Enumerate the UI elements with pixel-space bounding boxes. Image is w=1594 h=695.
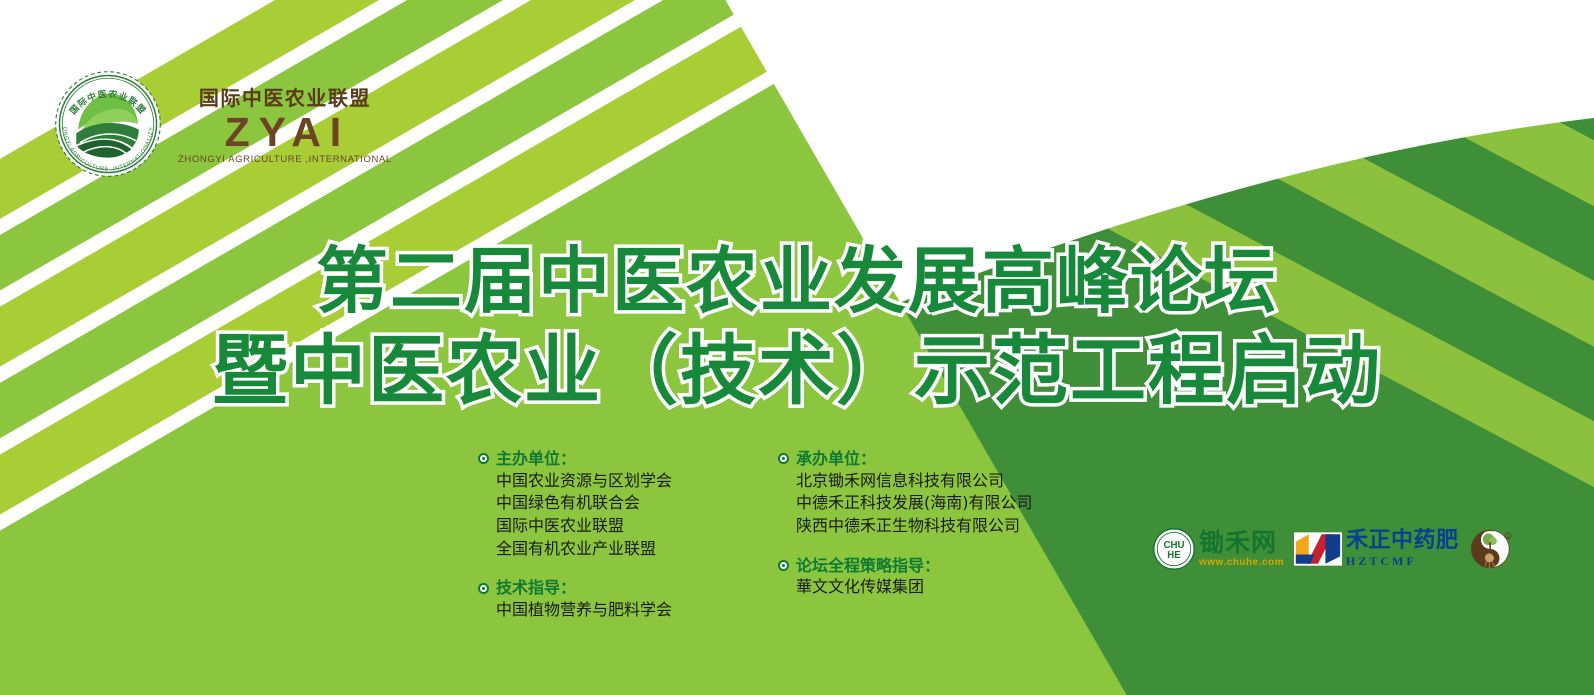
circular-field-emblem-icon: 国际中医农业联盟 ZHONGYI AGRICULTURE ,INTERNATIO… xyxy=(52,68,164,180)
credit-group-strategic-guidance: 论坛全程策略指导： 華文文化传媒集团 xyxy=(778,555,1050,599)
hztcmf-en: HZTCMF xyxy=(1346,554,1459,569)
event-title: 第二届中医农业发展高峰论坛 暨中医农业（技术）示范工程启动 xyxy=(0,236,1594,418)
bullet-icon xyxy=(478,453,489,464)
credit-group-organizers: 主办单位： 中国农业资源与区划学会 中国绿色有机联合会 国际中医农业联盟 全国有… xyxy=(478,448,750,560)
zyai-logo: 国际中医农业联盟 ZHONGYI AGRICULTURE ,INTERNATIO… xyxy=(52,68,392,180)
credit-item: 陕西中德禾正生物科技有限公司 xyxy=(796,515,1050,538)
credit-item: 国际中医农业联盟 xyxy=(496,515,750,538)
credit-item: 中国农业资源与区划学会 xyxy=(496,470,750,493)
credit-item: 中德禾正科技发展(海南)有限公司 xyxy=(796,492,1050,515)
credits-right-column: 承办单位： 北京锄禾网信息科技有限公司 中德禾正科技发展(海南)有限公司 陕西中… xyxy=(778,448,1050,622)
taiji-tree-seal-icon: R xyxy=(1469,526,1515,572)
credit-group-technical-guidance: 技术指导： 中国植物营养与肥料学会 xyxy=(478,577,750,621)
sponsor-logos: CHU HE 锄禾网 www.chuhe.com 禾正中药肥 xyxy=(1152,526,1515,572)
credit-item: 中国植物营养与肥料学会 xyxy=(496,599,750,622)
credit-heading-label: 论坛全程策略指导： xyxy=(796,555,940,577)
svg-text:HE: HE xyxy=(1167,550,1181,561)
credit-item: 北京锄禾网信息科技有限公司 xyxy=(796,470,1050,493)
bullet-icon xyxy=(478,583,489,594)
credit-heading-label: 主办单位： xyxy=(496,448,576,470)
credits-left-column: 主办单位： 中国农业资源与区划学会 中国绿色有机联合会 国际中医农业联盟 全国有… xyxy=(478,448,750,622)
logo-wordmark: 国际中医农业联盟 ZYAI ZHONGYI AGRICULTURE ,INTER… xyxy=(178,84,392,165)
credit-item: 中国绿色有机联合会 xyxy=(496,492,750,515)
credit-heading-label: 技术指导： xyxy=(496,577,576,599)
title-line-1: 第二届中医农业发展高峰论坛 xyxy=(0,236,1594,327)
credit-heading: 技术指导： xyxy=(478,577,750,599)
hztcmf-logo: 禾正中药肥 HZTCMF xyxy=(1294,530,1459,569)
credits-block: 主办单位： 中国农业资源与区划学会 中国绿色有机联合会 国际中医农业联盟 全国有… xyxy=(478,448,1050,622)
logo-wordmark-en: ZHONGYI AGRICULTURE ,INTERNATIONAL xyxy=(178,155,392,165)
title-line-2: 暨中医农业（技术）示范工程启动 xyxy=(0,323,1594,419)
chuhe-name: 锄禾网 xyxy=(1199,530,1284,555)
credit-item: 全国有机农业产业联盟 xyxy=(496,538,750,561)
credit-item: 華文文化传媒集团 xyxy=(796,576,1050,599)
logo-wordmark-cn: 国际中医农业联盟 xyxy=(199,88,371,108)
svg-text:R: R xyxy=(1506,535,1509,539)
credit-item-list: 北京锄禾网信息科技有限公司 中德禾正科技发展(海南)有限公司 陕西中德禾正生物科… xyxy=(796,470,1050,538)
chuhe-logo: CHU HE 锄禾网 www.chuhe.com xyxy=(1152,527,1284,571)
bullet-icon xyxy=(778,453,789,464)
credit-heading: 论坛全程策略指导： xyxy=(778,555,1050,577)
credit-item-list: 中国农业资源与区划学会 中国绿色有机联合会 国际中医农业联盟 全国有机农业产业联… xyxy=(496,470,750,561)
event-banner: 国际中医农业联盟 ZHONGYI AGRICULTURE ,INTERNATIO… xyxy=(0,0,1594,695)
hztcmf-name: 禾正中药肥 xyxy=(1346,530,1459,552)
logo-wordmark-abbr: ZYAI xyxy=(225,112,351,153)
chuhe-url: www.chuhe.com xyxy=(1199,557,1284,568)
credit-item-list: 中国植物营养与肥料学会 xyxy=(496,599,750,622)
credit-heading: 主办单位： xyxy=(478,448,750,470)
taiji-tree-logo: R xyxy=(1469,526,1515,572)
credit-item-list: 華文文化传媒集团 xyxy=(796,576,1050,599)
hztcmf-wordmark: 禾正中药肥 HZTCMF xyxy=(1346,530,1459,569)
bullet-icon xyxy=(778,560,789,571)
credit-group-hosts: 承办单位： 北京锄禾网信息科技有限公司 中德禾正科技发展(海南)有限公司 陕西中… xyxy=(778,448,1050,538)
chuhe-wordmark: 锄禾网 www.chuhe.com xyxy=(1199,530,1284,568)
credit-heading: 承办单位： xyxy=(778,448,1050,470)
z-stripe-mark-icon xyxy=(1294,532,1342,566)
credit-heading-label: 承办单位： xyxy=(796,448,876,470)
chuhe-circle-seal-icon: CHU HE xyxy=(1152,527,1196,571)
